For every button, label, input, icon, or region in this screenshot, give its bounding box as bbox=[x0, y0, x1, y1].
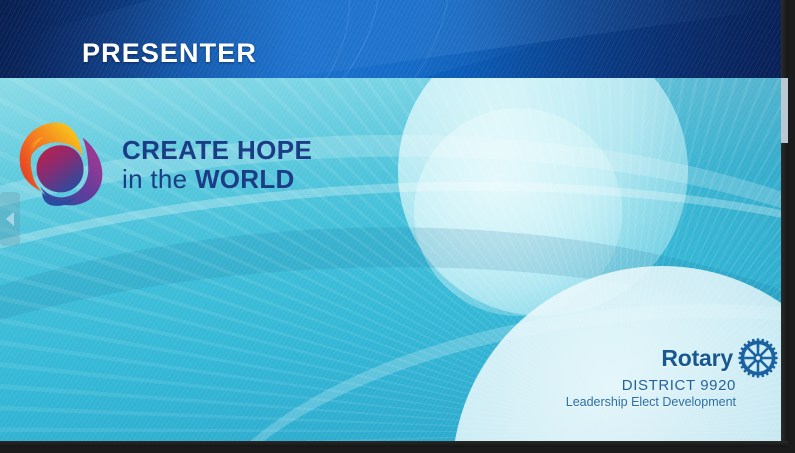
rotary-district-lockup: Rotary bbox=[548, 338, 778, 409]
background-wave-c bbox=[0, 205, 795, 447]
presentation-slide: PRESENTER bbox=[0, 0, 795, 453]
page-title: PRESENTER bbox=[82, 38, 257, 69]
rotary-brand-row: Rotary bbox=[548, 338, 778, 378]
window-right-edge-light bbox=[781, 78, 788, 143]
rotary-wheel-icon bbox=[738, 338, 778, 378]
background-circle-top bbox=[398, 78, 688, 316]
theme-line-2: in the WORLD bbox=[122, 166, 312, 192]
swirl-inner-drop bbox=[37, 145, 84, 192]
background-wedge-right bbox=[585, 78, 795, 378]
district-tagline: Leadership Elect Development bbox=[548, 395, 736, 409]
rotary-wordmark: Rotary bbox=[661, 345, 733, 372]
theme-line-2-bold: WORLD bbox=[195, 164, 295, 194]
prev-slide-button[interactable] bbox=[0, 192, 20, 246]
slide-header-banner: PRESENTER bbox=[0, 0, 795, 78]
window-bottom-edge bbox=[0, 441, 795, 447]
background-circle-top-highlight bbox=[414, 108, 622, 316]
chevron-left-icon bbox=[6, 212, 14, 226]
window-right-edge bbox=[781, 0, 788, 453]
rotary-theme-logo: CREATE HOPE in the WORLD bbox=[14, 116, 312, 212]
district-number: DISTRICT 9920 bbox=[548, 377, 736, 394]
header-light-band-2 bbox=[175, 0, 786, 78]
rotary-theme-swirl-icon bbox=[14, 116, 108, 212]
theme-wordmark: CREATE HOPE in the WORLD bbox=[122, 137, 312, 192]
header-shadow-right bbox=[461, 0, 795, 78]
theme-line-1: CREATE HOPE bbox=[122, 137, 312, 163]
theme-line-2-light: in the bbox=[122, 164, 195, 194]
slide-body: CREATE HOPE in the WORLD Rotary bbox=[0, 78, 795, 447]
